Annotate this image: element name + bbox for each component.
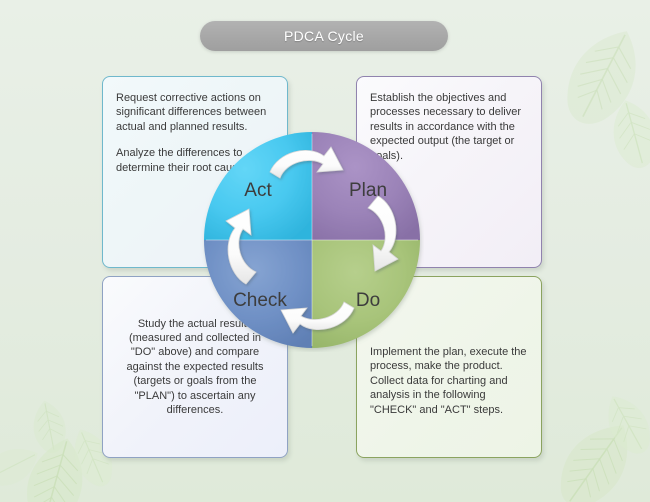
wheel-label-act: Act <box>244 180 272 201</box>
leaf-icon <box>542 9 650 146</box>
diagram-canvas: PDCA Cycle Request corrective actions on… <box>0 0 650 502</box>
leaf-icon <box>588 381 650 469</box>
page-title: PDCA Cycle <box>284 28 364 44</box>
leaf-icon <box>7 426 105 502</box>
leaf-icon <box>0 431 51 502</box>
leaf-icon <box>534 401 650 502</box>
diagram-title-pill: PDCA Cycle <box>200 21 448 51</box>
leaf-icon <box>597 89 650 178</box>
wheel-label-do: Do <box>356 290 380 311</box>
pdca-cycle-wheel: Act Plan Check Do <box>200 128 424 352</box>
wheel-label-check: Check <box>233 290 287 311</box>
leaf-icon <box>22 394 77 460</box>
note-do-paragraph-1: Implement the plan, execute the process,… <box>370 345 528 417</box>
